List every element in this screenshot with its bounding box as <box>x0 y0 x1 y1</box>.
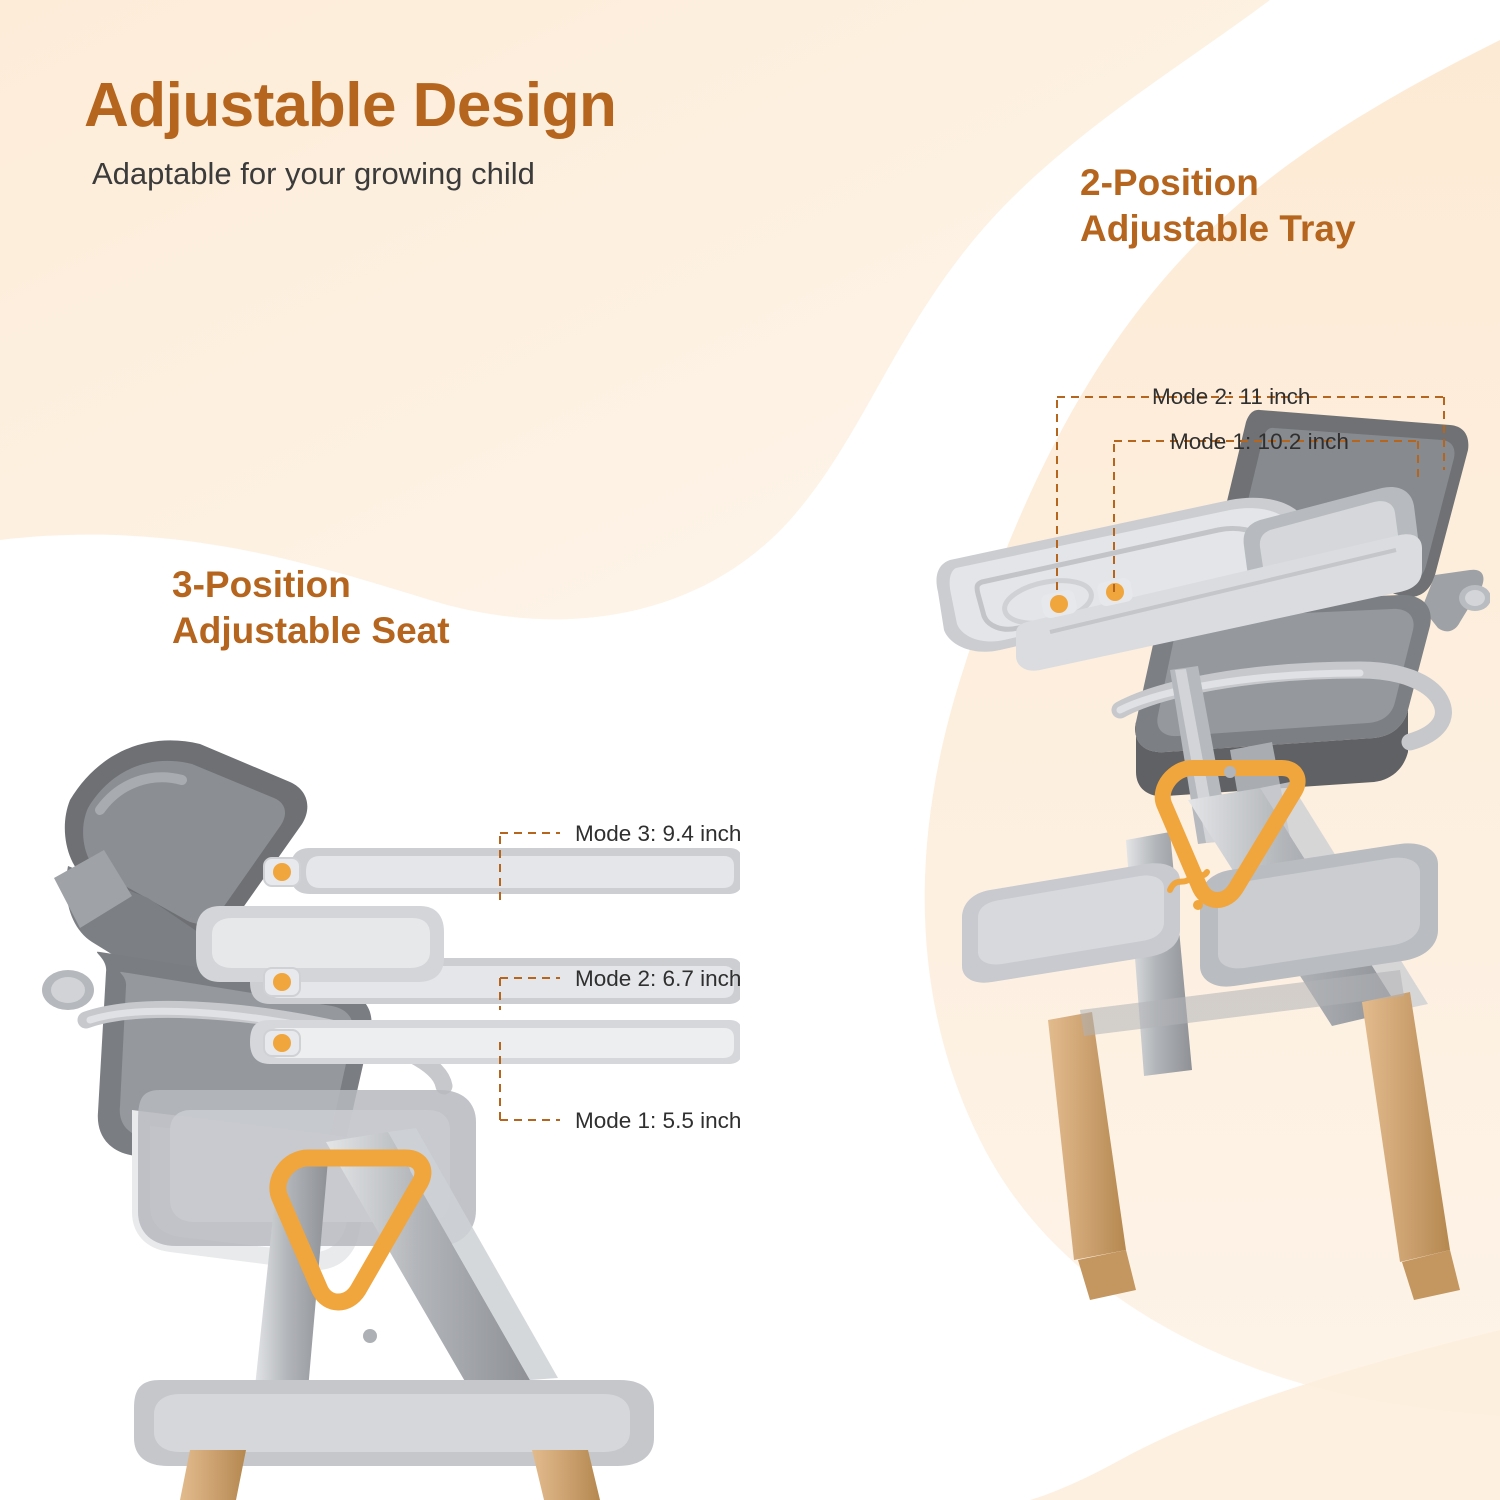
header-block: Adjustable Design Adaptable for your gro… <box>84 72 914 192</box>
page-title: Adjustable Design <box>84 72 914 140</box>
seat-mode-button-3 <box>264 858 300 886</box>
infographic-canvas: Adjustable Design Adaptable for your gro… <box>0 0 1500 1500</box>
product-image-tray <box>930 370 1490 1500</box>
callout-tray-mode-1: Mode 1: 10.2 inch <box>1170 429 1349 455</box>
feature-title-seat: 3-Position Adjustable Seat <box>172 562 450 655</box>
callout-seat-mode-3: Mode 3: 9.4 inch <box>575 821 741 847</box>
highchair-tray-illustration <box>930 370 1490 1500</box>
seat-mode-button-1 <box>264 1030 300 1056</box>
highchair-seat-illustration <box>40 690 740 1500</box>
seat-mode-button-2 <box>264 968 300 996</box>
page-subtitle: Adaptable for your growing child <box>92 156 914 192</box>
callout-seat-mode-1: Mode 1: 5.5 inch <box>575 1108 741 1134</box>
product-image-seat <box>40 690 740 1500</box>
callout-seat-mode-2: Mode 2: 6.7 inch <box>575 966 741 992</box>
feature-title-tray: 2-Position Adjustable Tray <box>1080 160 1356 253</box>
callout-tray-mode-2: Mode 2: 11 inch <box>1152 384 1310 410</box>
